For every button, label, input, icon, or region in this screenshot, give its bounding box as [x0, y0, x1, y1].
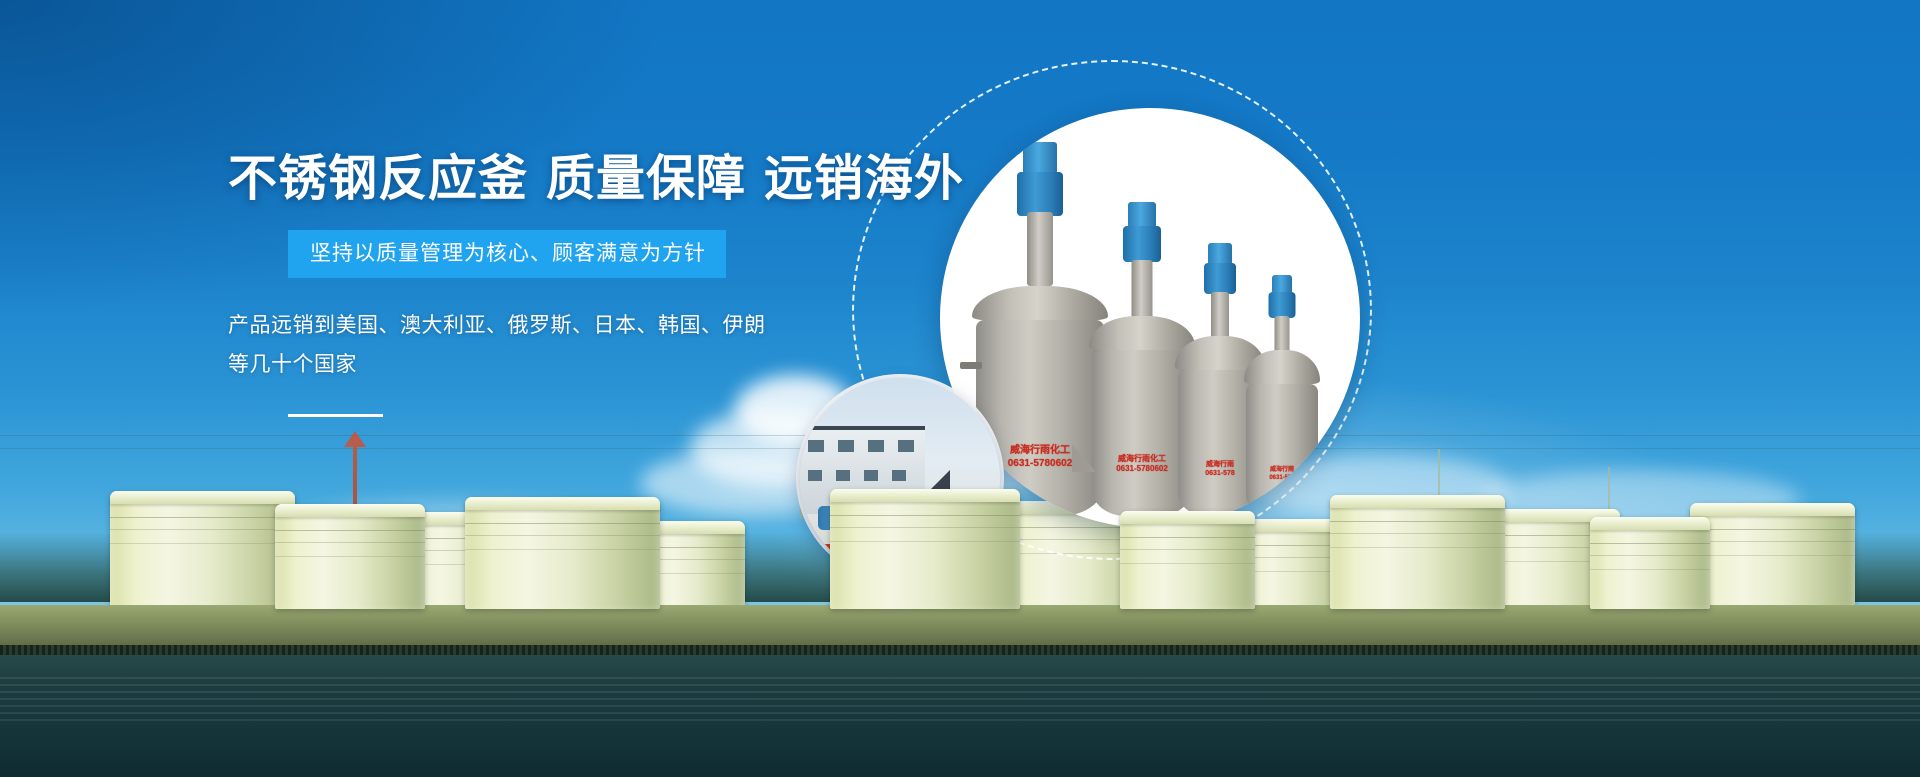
- headline-part-1: 不锈钢反应釜: [228, 150, 528, 207]
- description-line-1: 产品远销到美国、澳大利亚、俄罗斯、日本、韩国、伊朗: [228, 306, 928, 345]
- watermark-company: 威海行雨: [1270, 467, 1294, 473]
- watermark-company: 威海行雨: [1206, 461, 1234, 468]
- storage-tank: [1690, 503, 1855, 609]
- vessel-dome: [1089, 316, 1195, 350]
- storage-tank: [1590, 517, 1710, 609]
- product-photo-circle: 威海行雨化工 0631-5780602 威海行雨化工 0631-5780602: [940, 108, 1360, 528]
- storage-tank: [110, 491, 295, 609]
- watermark-phone: 0631-5780602: [1116, 464, 1168, 474]
- subtitle-highlight: 坚持以质量管理为核心、顾客满意为方针: [288, 230, 726, 278]
- watermark-company: 威海行雨化工: [1010, 445, 1070, 456]
- agitator-motor: [1204, 263, 1236, 294]
- hero-banner: 威海行雨化工 0631-5780602 威海行雨化工 0631-5780602: [0, 0, 1920, 777]
- page-title: 不锈钢反应釜质量保障远销海外: [228, 152, 928, 206]
- agitator-motor: [1123, 226, 1161, 262]
- reactor-vessel: 威海行雨化工 0631-5780602: [1092, 350, 1192, 516]
- quay-wall: [0, 605, 1920, 649]
- headline-part-2: 质量保障: [546, 150, 746, 207]
- reactor-vessel: 威海行雨 0631-578: [1246, 384, 1318, 516]
- watermark-company: 威海行雨化工: [1118, 454, 1166, 463]
- vessel-body: 威海行雨 0631-578: [1246, 384, 1318, 516]
- vessel-dome: [972, 286, 1108, 320]
- description-line-2: 等几十个国家: [228, 345, 928, 384]
- storage-tank: [465, 497, 660, 609]
- photo-watermark: 威海行雨 0631-578: [1269, 466, 1294, 482]
- agitator-motor: [1269, 292, 1296, 318]
- motor-cap: [1128, 202, 1156, 228]
- side-nozzle: [960, 362, 982, 369]
- motor-cap: [1208, 243, 1232, 265]
- storage-tank: [275, 504, 425, 609]
- factory-windows: [808, 440, 918, 452]
- photo-watermark: 威海行雨化工 0631-5780602: [1116, 454, 1168, 474]
- agitator-shaft: [1132, 260, 1153, 320]
- banner-copy: 不锈钢反应釜质量保障远销海外 坚持以质量管理为核心、顾客满意为方针 产品远销到美…: [228, 152, 928, 417]
- factory-windows: [808, 470, 918, 481]
- watermark-phone: 0631-578: [1205, 469, 1235, 478]
- photo-watermark: 威海行雨 0631-578: [1205, 460, 1235, 478]
- storage-tank-farm: [0, 474, 1920, 609]
- watermark-phone: 0631-578: [1269, 474, 1294, 482]
- headline-part-3: 远销海外: [764, 150, 964, 207]
- watermark-phone: 0631-5780602: [1008, 457, 1073, 470]
- banner-description: 产品远销到美国、澳大利亚、俄罗斯、日本、韩国、伊朗 等几十个国家: [228, 306, 928, 384]
- photo-watermark: 威海行雨化工 0631-5780602: [1008, 444, 1073, 470]
- storage-tank: [830, 489, 1020, 609]
- water-reflection: [0, 677, 1920, 725]
- vessel-body: 威海行雨化工 0631-5780602: [1092, 350, 1192, 516]
- agitator-shaft: [1027, 212, 1053, 286]
- storage-tank: [1330, 495, 1505, 609]
- motor-cap: [1023, 142, 1057, 174]
- decorative-divider: [288, 414, 383, 417]
- agitator-motor: [1017, 172, 1063, 216]
- storage-tank: [1120, 511, 1255, 609]
